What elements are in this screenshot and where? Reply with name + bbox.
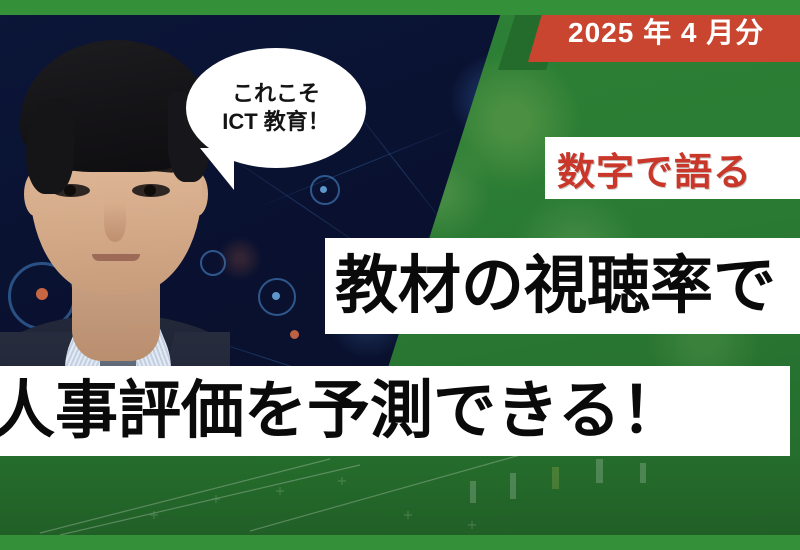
thumbnail-canvas: 2025 年 4 月分 数字で語る 教材の視聴率で 人事評価を予測できる！ これ… (0, 0, 800, 550)
node-dot (272, 292, 280, 300)
top-green-bar (0, 0, 800, 15)
headline-line1-box: 教材の視聴率で (325, 238, 800, 334)
speech-bubble: これこそ ICT 教育！ (186, 48, 366, 168)
mouth (92, 254, 140, 261)
node-dot (320, 186, 327, 193)
headline-line2-label: 人事評価を予測できる！ (0, 380, 684, 443)
speech-bubble-line2: ICT 教育！ (222, 108, 330, 136)
bottom-green-bar (0, 535, 800, 550)
speech-bubble-line1: これこそ (232, 80, 320, 108)
subheadline-box: 数字で語る (545, 137, 800, 199)
nose (104, 202, 126, 242)
eye-right (132, 184, 170, 197)
node-dot (290, 330, 299, 339)
date-badge-label: 2025 年 4 月分 (568, 11, 764, 51)
subheadline-label: 数字で語る (557, 141, 752, 196)
headline-line1-label: 教材の視聴率で (335, 255, 776, 318)
headline-line2-box: 人事評価を予測できる！ (0, 366, 790, 456)
chart-lines-decoration (0, 455, 800, 535)
hair (20, 40, 212, 172)
